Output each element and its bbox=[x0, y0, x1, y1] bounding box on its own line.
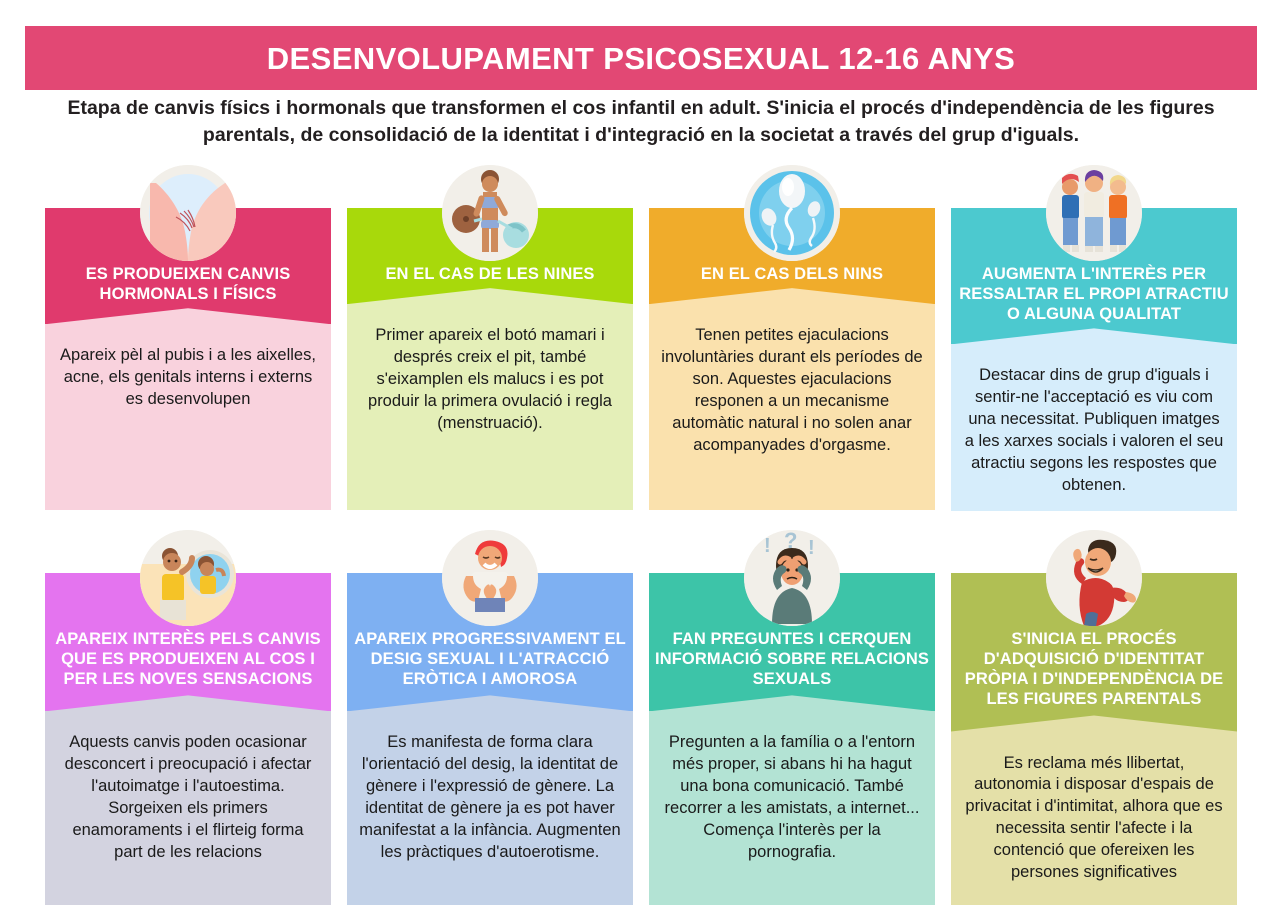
info-card: APAREIX INTERÈS PELS CANVIS QUE ES PRODU… bbox=[45, 530, 331, 905]
armpit-pubic-hair-icon bbox=[140, 165, 236, 261]
card-body: Primer apareix el botó mamari i després … bbox=[347, 287, 633, 510]
girl-mirror-icon bbox=[140, 530, 236, 626]
card-body-text: Pregunten a la família o a l'entorn més … bbox=[661, 720, 923, 864]
boy-heart-hands-icon bbox=[442, 530, 538, 626]
card-body: Pregunten a la família o a l'entorn més … bbox=[649, 694, 935, 905]
info-card: S'INICIA EL PROCÉS D'ADQUISICIÓ D'IDENTI… bbox=[951, 530, 1237, 905]
card-body-text: Aquests canvis poden ocasionar desconcer… bbox=[57, 720, 319, 864]
card-body: Apareix pèl al pubis i a les aixelles, a… bbox=[45, 307, 331, 510]
info-card: APAREIX PROGRESSIVAMENT EL DESIG SEXUAL … bbox=[347, 530, 633, 905]
card-body-text: Apareix pèl al pubis i a les aixelles, a… bbox=[57, 333, 319, 411]
confused-person-questions-icon: ! ? ! bbox=[744, 530, 840, 626]
info-card: EN EL CAS DE LES NINESPrimer apareix el … bbox=[347, 165, 633, 510]
group-of-friends-icon bbox=[1046, 165, 1142, 261]
page-subtitle: Etapa de canvis físics i hormonals que t… bbox=[34, 95, 1248, 149]
card-body: Es reclama més llibertat, autonomia i di… bbox=[951, 715, 1237, 906]
page-title: DESENVOLUPAMENT PSICOSEXUAL 12-16 ANYS bbox=[267, 43, 1015, 74]
card-body: Es manifesta de forma clara l'orientació… bbox=[347, 694, 633, 905]
title-banner: DESENVOLUPAMENT PSICOSEXUAL 12-16 ANYS bbox=[25, 26, 1257, 90]
card-body-text: Es reclama més llibertat, autonomia i di… bbox=[963, 741, 1225, 885]
info-card: FAN PREGUNTES I CERQUEN INFORMACIÓ SOBRE… bbox=[649, 530, 935, 905]
girl-body-changes-icon bbox=[442, 165, 538, 261]
card-row-top: ES PRODUEIXEN CANVIS HORMONALS I FÍSICSA… bbox=[45, 165, 1237, 510]
card-body: Aquests canvis poden ocasionar desconcer… bbox=[45, 694, 331, 905]
card-body: Destacar dins de grup d'iguals i sentir-… bbox=[951, 327, 1237, 511]
card-body-text: Primer apareix el botó mamari i després … bbox=[359, 313, 621, 435]
card-body-text: Es manifesta de forma clara l'orientació… bbox=[359, 720, 621, 864]
card-row-bottom: APAREIX INTERÈS PELS CANVIS QUE ES PRODU… bbox=[45, 530, 1237, 905]
svg-text:!: ! bbox=[808, 537, 815, 559]
happy-free-boy-icon bbox=[1046, 530, 1142, 626]
info-card: AUGMENTA L'INTERÈS PER RESSALTAR EL PROP… bbox=[951, 165, 1237, 510]
info-card: EN EL CAS DELS NINSTenen petites ejacula… bbox=[649, 165, 935, 510]
svg-text:!: ! bbox=[764, 535, 771, 557]
sperm-ovum-icon bbox=[744, 165, 840, 261]
card-body: Tenen petites ejaculacions involuntàries… bbox=[649, 287, 935, 510]
info-card: ES PRODUEIXEN CANVIS HORMONALS I FÍSICSA… bbox=[45, 165, 331, 510]
card-body-text: Destacar dins de grup d'iguals i sentir-… bbox=[963, 353, 1225, 497]
infographic-page: DESENVOLUPAMENT PSICOSEXUAL 12-16 ANYS E… bbox=[0, 0, 1281, 910]
card-body-text: Tenen petites ejaculacions involuntàries… bbox=[661, 313, 923, 457]
